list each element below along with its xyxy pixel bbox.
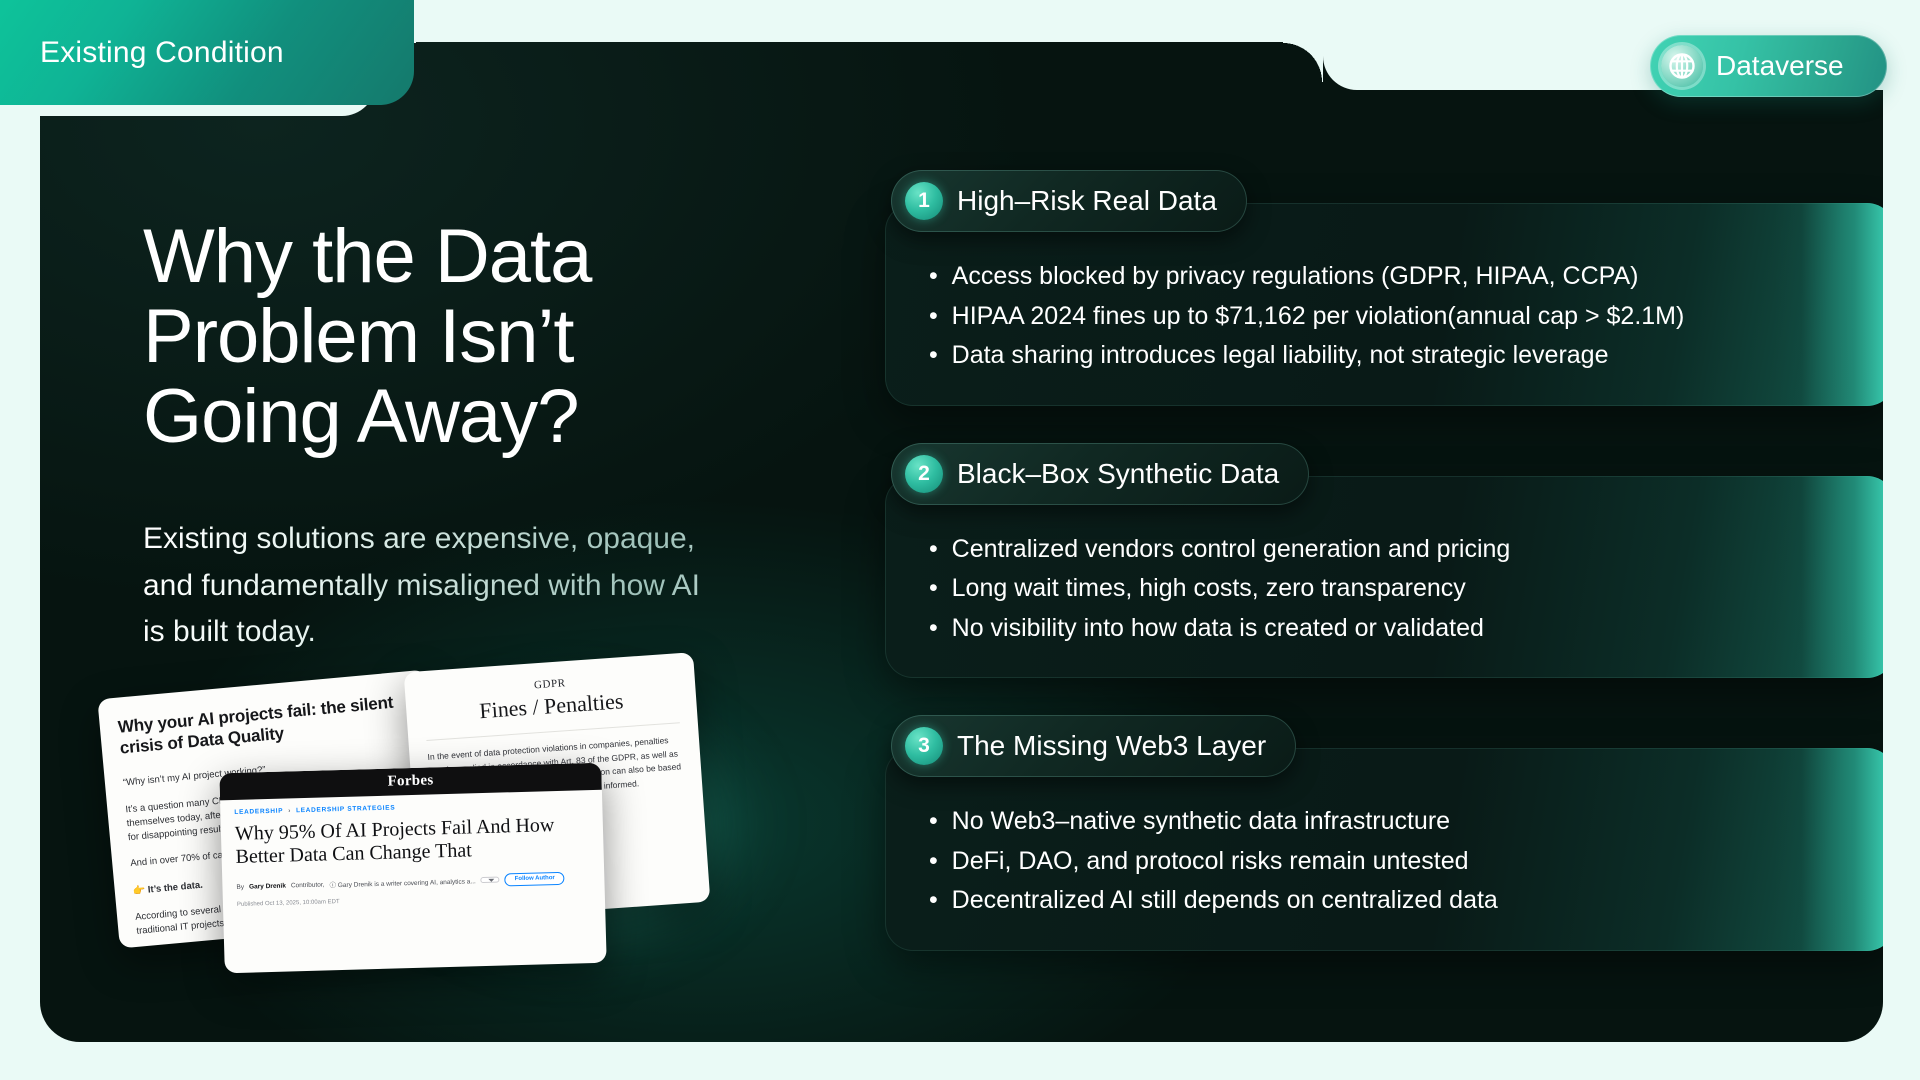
section-tab[interactable]: Existing Condition xyxy=(0,0,414,105)
card-bullet: No Web3–native synthetic data infrastruc… xyxy=(929,802,1851,842)
clipping-title: Why your AI projects fail: the silent cr… xyxy=(117,691,414,759)
byline: By Gary Drenik Contributor, ⓘ Gary Dreni… xyxy=(236,871,590,894)
issue-card-2: 2 Black–Box Synthetic Data Centralized v… xyxy=(885,443,1883,679)
issue-card-3: 3 The Missing Web3 Layer No Web3–native … xyxy=(885,715,1883,951)
forbes-headline: Why 95% Of AI Projects Fail And How Bett… xyxy=(235,813,590,870)
globe-grid-icon xyxy=(1661,45,1703,87)
card-bullet: Long wait times, high costs, zero transp… xyxy=(929,569,1851,609)
issue-card-1: 1 High–Risk Real Data Access blocked by … xyxy=(885,170,1883,406)
section-tab-label: Existing Condition xyxy=(40,36,284,70)
card-title: High–Risk Real Data xyxy=(957,185,1217,217)
card-title: The Missing Web3 Layer xyxy=(957,730,1266,762)
brand-badge-label: Dataverse xyxy=(1716,50,1844,82)
panel-notch-right-curve xyxy=(1283,42,1323,82)
hero-section: Why the Data Problem Isn’t Going Away? E… xyxy=(143,217,843,656)
card-bullet: Access blocked by privacy regulations (G… xyxy=(929,257,1851,297)
card-body: No Web3–native synthetic data infrastruc… xyxy=(885,748,1883,951)
follow-author-button[interactable]: Follow Author xyxy=(505,872,565,887)
card-bullet: Data sharing introduces legal liability,… xyxy=(929,336,1851,376)
issue-cards-list: 1 High–Risk Real Data Access blocked by … xyxy=(885,170,1883,988)
card-number-badge: 3 xyxy=(905,727,943,765)
clipping-emphasis: It’s the data. xyxy=(147,879,203,895)
card-body: Access blocked by privacy regulations (G… xyxy=(885,203,1883,406)
press-clippings-collage: Why your AI projects fail: the silent cr… xyxy=(40,642,880,972)
card-bullet: Decentralized AI still depends on centra… xyxy=(929,881,1851,921)
card-bullet: No visibility into how data is created o… xyxy=(929,609,1851,649)
byline-select[interactable] xyxy=(481,877,500,884)
card-number-badge: 2 xyxy=(905,455,943,493)
breadcrumb: LEADERSHIP › LEADERSHIP STRATEGIES xyxy=(234,799,588,816)
brand-badge[interactable]: Dataverse xyxy=(1650,35,1887,97)
published-timestamp: Published Oct 13, 2025, 10:00am EDT xyxy=(237,892,591,908)
card-body: Centralized vendors control generation a… xyxy=(885,476,1883,679)
clipping-forbes[interactable]: Forbes LEADERSHIP › LEADERSHIP STRATEGIE… xyxy=(219,763,606,974)
breadcrumb-parent[interactable]: LEADERSHIP xyxy=(234,808,283,816)
card-header-pill[interactable]: 1 High–Risk Real Data xyxy=(891,170,1247,232)
pointer-emoji: 👉 xyxy=(132,885,145,897)
card-bullet: DeFi, DAO, and protocol risks remain unt… xyxy=(929,842,1851,882)
breadcrumb-child[interactable]: LEADERSHIP STRATEGIES xyxy=(296,804,396,814)
page-title: Why the Data Problem Isn’t Going Away? xyxy=(143,217,843,456)
card-number-badge: 1 xyxy=(905,182,943,220)
card-bullet: HIPAA 2024 fines up to $71,162 per viola… xyxy=(929,297,1851,337)
card-header-pill[interactable]: 2 Black–Box Synthetic Data xyxy=(891,443,1309,505)
card-title: Black–Box Synthetic Data xyxy=(957,458,1279,490)
card-header-pill[interactable]: 3 The Missing Web3 Layer xyxy=(891,715,1296,777)
byline-role: Contributor, xyxy=(291,881,325,889)
author-name[interactable]: Gary Drenik xyxy=(249,882,286,890)
card-bullet: Centralized vendors control generation a… xyxy=(929,530,1851,570)
main-panel: Why the Data Problem Isn’t Going Away? E… xyxy=(40,42,1883,1042)
byline-prefix: By xyxy=(236,884,244,891)
byline-description: ⓘ Gary Drenik is a writer covering AI, a… xyxy=(329,876,476,890)
hero-subtitle: Existing solutions are expensive, opaque… xyxy=(143,516,783,656)
